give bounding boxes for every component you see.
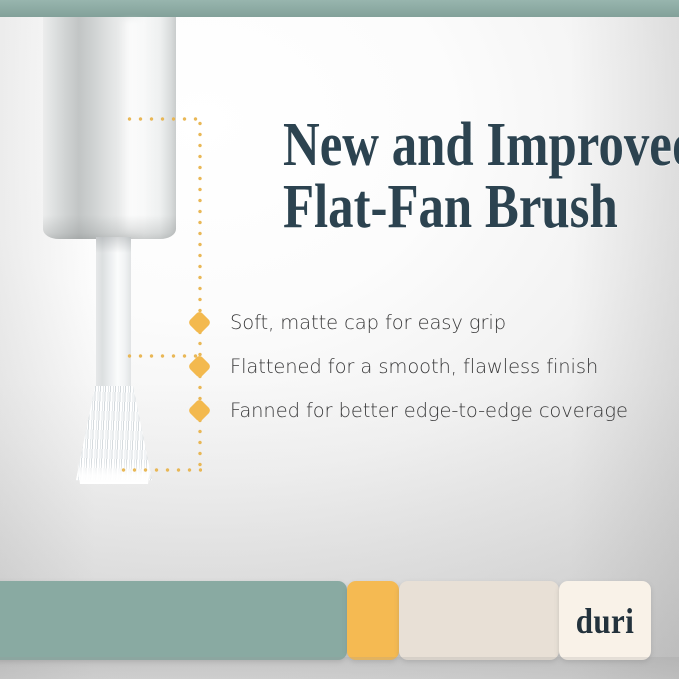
bullet-text: Flattened for a smooth, flawless finish [230,355,598,378]
bullet-text: Fanned for better edge-to-edge coverage [230,399,628,422]
cap-highlight [118,20,148,232]
bottom-color-bar: duri [0,581,679,660]
headline: New and Improved Flat-Fan Brush [283,114,595,238]
cap-bottom-shading [43,215,176,239]
product-marketing-image: New and Improved Flat-Fan Brush Soft, ma… [0,0,679,679]
headline-line-1: New and Improved [283,111,679,179]
headline-line-2: Flat-Fan Brush [283,176,595,238]
diamond-bullet-icon [187,398,211,422]
cream-logo-segment: duri [559,581,651,660]
list-item: Fanned for better edge-to-edge coverage [188,388,658,432]
brush-stem [96,237,131,389]
sage-segment [0,581,347,660]
dotted-connector-cap [124,117,202,121]
list-item: Flattened for a smooth, flawless finish [188,344,658,388]
brush-cap [43,17,176,239]
amber-segment [347,581,399,660]
bristle-tips [64,462,164,484]
bullet-text: Soft, matte cap for easy grip [230,311,506,334]
beige-segment [399,581,559,660]
list-item: Soft, matte cap for easy grip [188,300,658,344]
dotted-connector-bristles [118,468,202,472]
stem-shading [96,237,131,253]
duri-brand-logo: duri [576,600,635,642]
feature-bullet-list: Soft, matte cap for easy grip Flattened … [188,300,658,432]
diamond-bullet-icon [187,310,211,334]
diamond-bullet-icon [187,354,211,378]
bottom-bar-shadow [0,657,679,679]
